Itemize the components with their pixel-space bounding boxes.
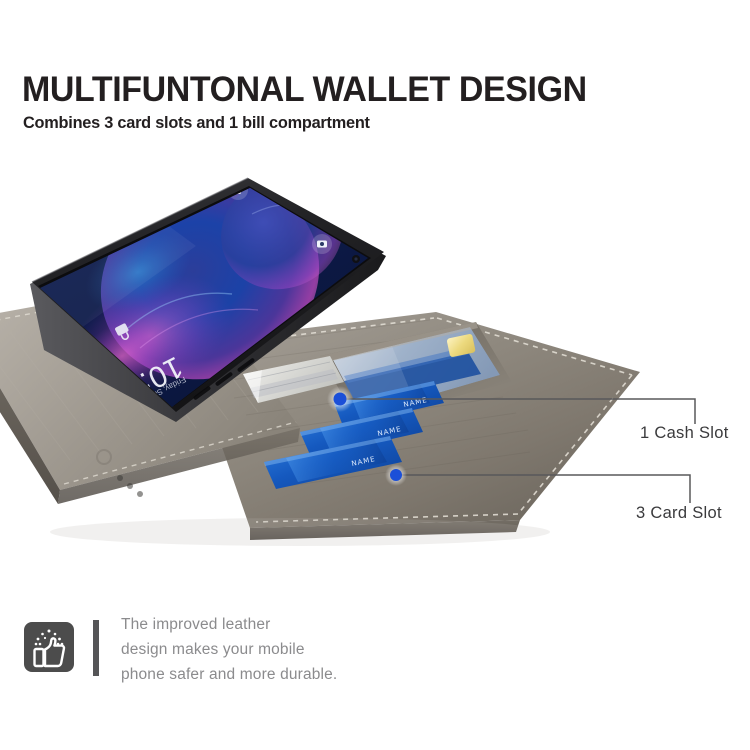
feature-description: The improved leather design makes your m… [121, 612, 337, 687]
feature-block: The improved leather design makes your m… [24, 612, 337, 687]
thumbs-up-icon [24, 622, 74, 672]
camera-icon [312, 234, 332, 254]
feature-line-3: phone safer and more durable. [121, 662, 337, 687]
product-shadow [50, 518, 550, 546]
callout-label-cash-slot: 1 Cash Slot [640, 424, 729, 443]
feature-line-2: design makes your mobile [121, 637, 337, 662]
page-subtitle: Combines 3 card slots and 1 bill compart… [23, 113, 370, 133]
callout-label-card-slot: 3 Card Slot [636, 504, 722, 523]
product-image-canvas: MULTIFUNTONAL WALLET DESIGN Combines 3 c… [0, 0, 750, 750]
page-title: MULTIFUNTONAL WALLET DESIGN [22, 70, 587, 110]
feature-line-1: The improved leather [121, 612, 337, 637]
feature-divider [93, 620, 99, 676]
